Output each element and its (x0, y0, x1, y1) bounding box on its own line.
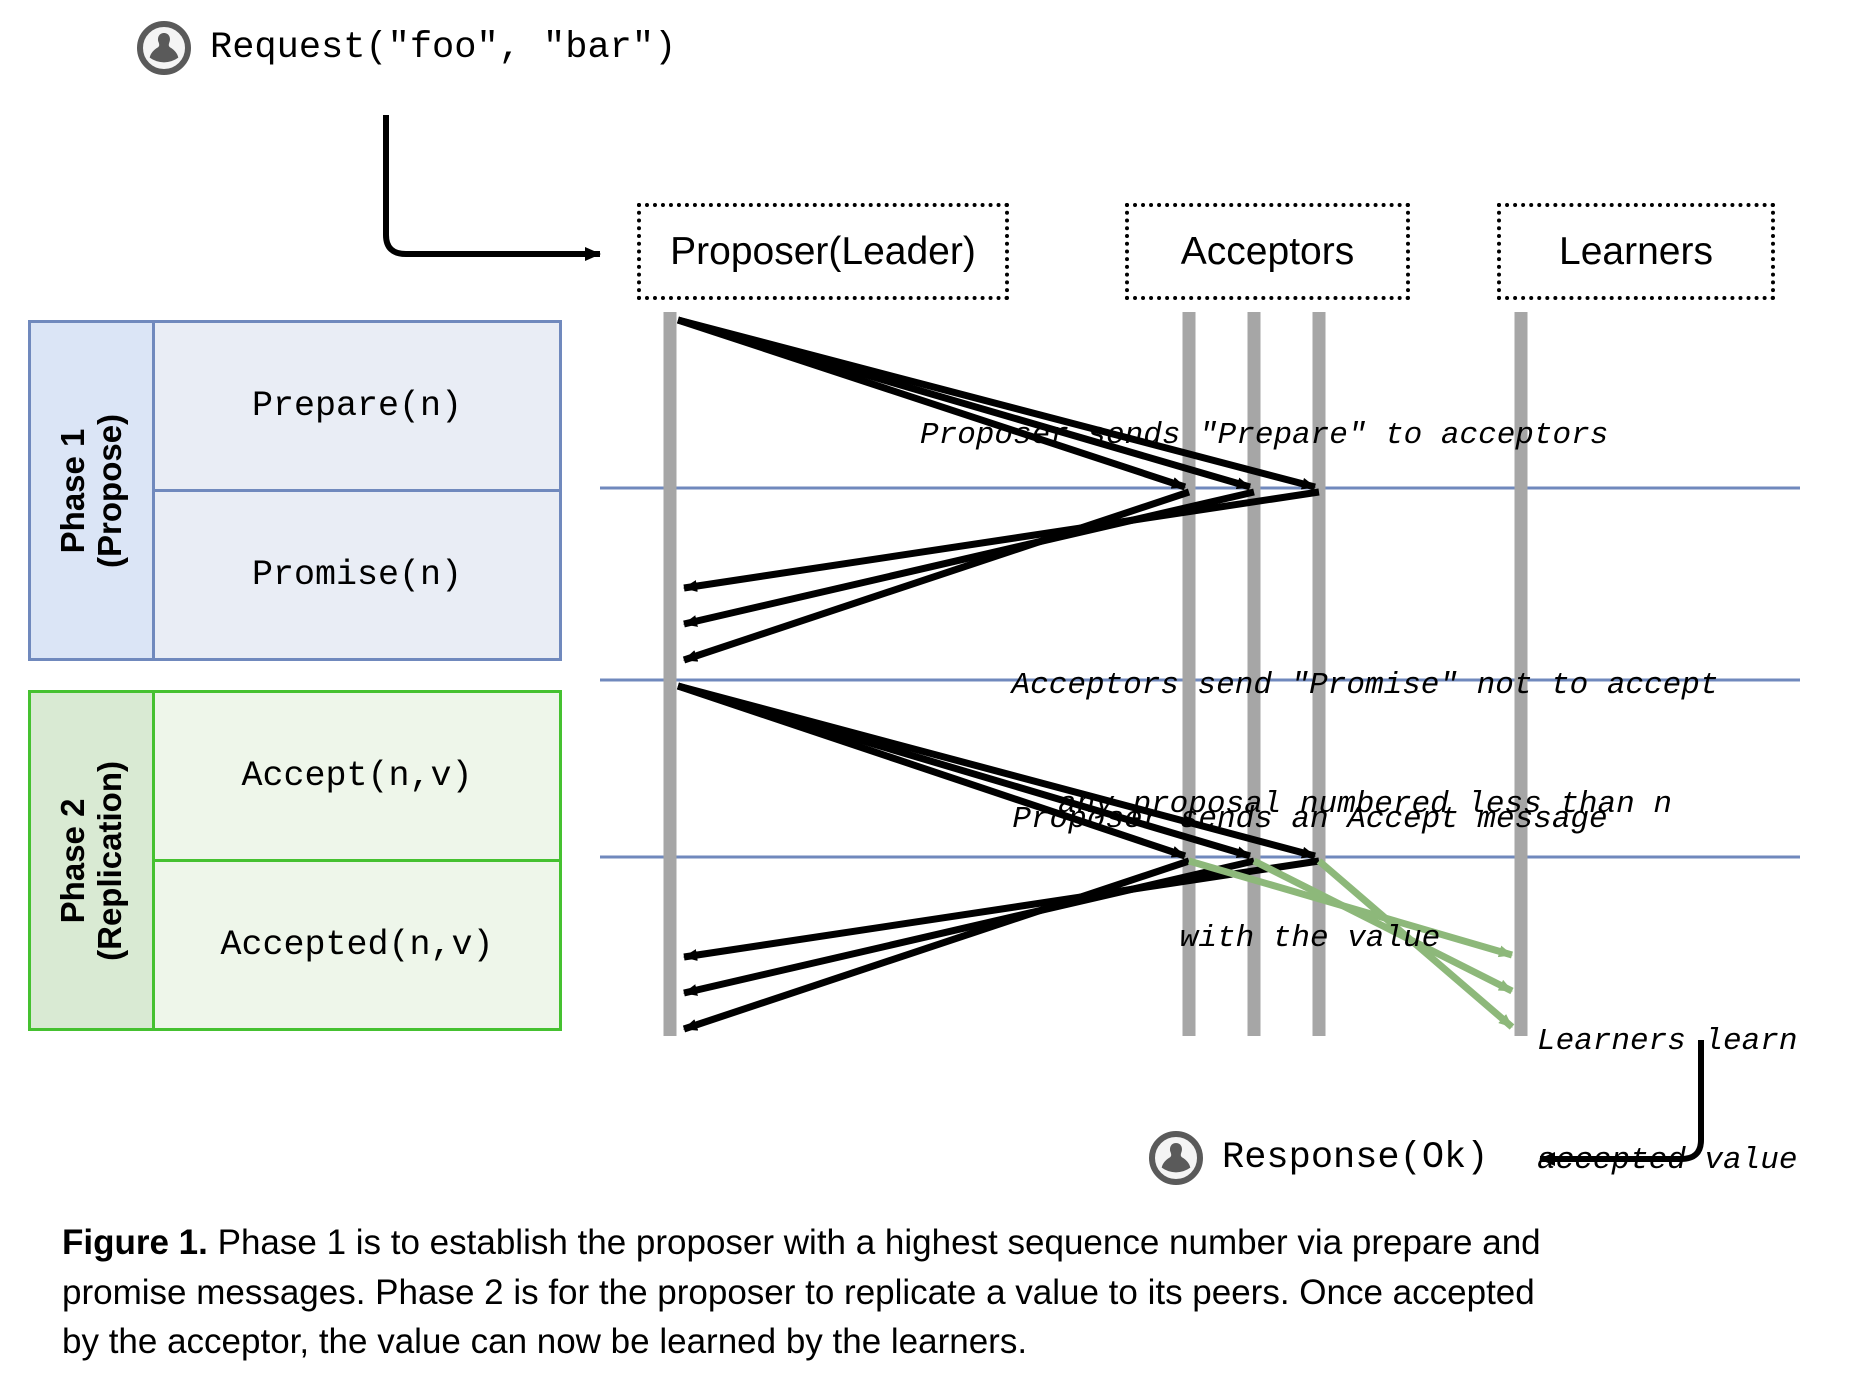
client-response-label: Response(Ok) (1222, 1137, 1488, 1179)
annotation-prepare-line-1: Proposer sends "Prepare" to acceptors (920, 416, 1608, 456)
client-request: Request("foo", "bar") (136, 20, 676, 76)
annotation-prepare: Proposer sends "Prepare" to acceptors (920, 337, 1608, 535)
figure-canvas: Request("foo", "bar") Proposer(Leader) A… (0, 0, 1852, 1388)
user-circle-icon (136, 20, 192, 76)
annotation-accept-line-1: Proposer sends an Accept message (940, 800, 1680, 840)
phase-2-side-label: Phase 2 (Replication) (31, 693, 155, 1028)
participant-box-proposer[interactable]: Proposer(Leader) (637, 203, 1009, 300)
user-circle-icon (1148, 1130, 1204, 1186)
figure-caption-label: Figure 1. (62, 1223, 208, 1262)
participant-label-learners: Learners (1559, 230, 1713, 274)
phase-1-row-promise: Promise(n) (155, 489, 559, 658)
phase-2-row-accepted-label: Accepted(n,v) (220, 925, 493, 965)
annotation-learn-line-2: accepted value (1537, 1141, 1797, 1181)
phase-2-table: Phase 2 (Replication) Accept(n,v) Accept… (28, 690, 562, 1031)
participant-label-acceptors: Acceptors (1181, 230, 1354, 274)
phase-1-row-prepare-label: Prepare(n) (252, 386, 462, 426)
phase-1-side-line2: (Propose) (91, 413, 128, 567)
annotation-learn: Learners learn accepted value (1537, 943, 1797, 1260)
phase-2-row-accepted: Accepted(n,v) (155, 859, 559, 1028)
phase-1-row-promise-label: Promise(n) (252, 555, 462, 595)
figure-caption-text: Phase 1 is to establish the proposer wit… (62, 1223, 1541, 1361)
client-request-label: Request("foo", "bar") (210, 27, 676, 69)
phase-2-side-line2: (Replication) (91, 761, 128, 961)
request-arrow (386, 115, 600, 254)
client-response: Response(Ok) (1148, 1130, 1488, 1186)
figure-caption: Figure 1. Phase 1 is to establish the pr… (62, 1218, 1562, 1367)
annotation-promise-line-1: Acceptors send "Promise" not to accept (930, 666, 1800, 706)
phase-1-table: Phase 1 (Propose) Prepare(n) Promise(n) (28, 320, 562, 661)
phase-1-side-label: Phase 1 (Propose) (31, 323, 155, 658)
participant-box-learners[interactable]: Learners (1497, 203, 1775, 300)
phase-1-row-prepare: Prepare(n) (155, 323, 559, 489)
phase-2-side-line1: Phase 2 (54, 798, 91, 923)
participant-box-acceptors[interactable]: Acceptors (1125, 203, 1410, 300)
phase-2-row-accept: Accept(n,v) (155, 693, 559, 859)
annotation-learn-line-1: Learners learn (1537, 1022, 1797, 1062)
participant-label-proposer: Proposer(Leader) (670, 230, 976, 274)
phase-1-side-line1: Phase 1 (54, 428, 91, 553)
phase-2-row-accept-label: Accept(n,v) (241, 756, 472, 796)
